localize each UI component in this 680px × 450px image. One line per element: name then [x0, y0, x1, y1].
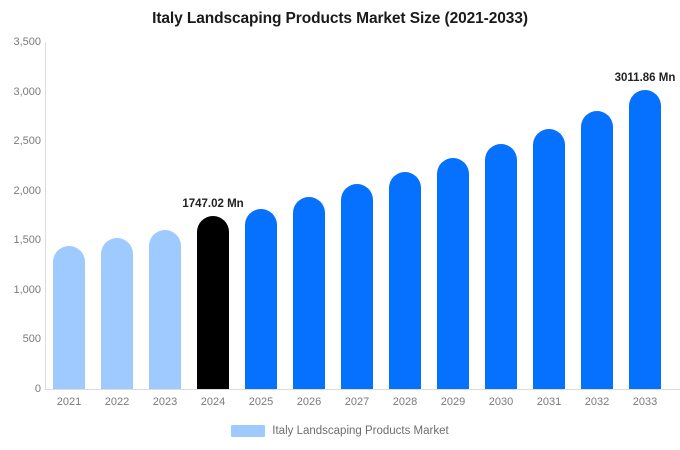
x-tick-label-2029: 2029	[429, 396, 477, 409]
y-tick-label: 3,500	[1, 37, 41, 48]
x-axis-line	[45, 389, 680, 390]
y-tick-label: 1,500	[1, 235, 41, 246]
data-labels-container: 1747.02 Mn3011.86 Mn	[45, 42, 680, 389]
x-tick-label-2027: 2027	[333, 396, 381, 409]
x-tick-label-2031: 2031	[525, 396, 573, 409]
y-tick-label: 500	[1, 334, 41, 345]
chart-legend: Italy Landscaping Products Market	[0, 425, 680, 437]
x-tick-label-2026: 2026	[285, 396, 333, 409]
x-tick-label-2028: 2028	[381, 396, 429, 409]
x-tick-label-2030: 2030	[477, 396, 525, 409]
data-label-2024: 1747.02 Mn	[182, 198, 243, 210]
y-tick-label: 2,500	[1, 136, 41, 147]
legend-swatch	[231, 425, 265, 437]
x-tick-label-2022: 2022	[93, 396, 141, 409]
bar-chart: Italy Landscaping Products Market Size (…	[0, 0, 680, 450]
chart-title: Italy Landscaping Products Market Size (…	[0, 10, 680, 28]
y-tick-label: 3,000	[1, 87, 41, 98]
legend-label: Italy Landscaping Products Market	[272, 425, 448, 437]
x-tick-label-2023: 2023	[141, 396, 189, 409]
x-tick-label-2032: 2032	[573, 396, 621, 409]
legend-item[interactable]: Italy Landscaping Products Market	[231, 425, 448, 437]
x-tick-label-2033: 2033	[621, 396, 669, 409]
x-axis-tick-labels: 2021202220232024202520262027202820292030…	[45, 396, 680, 414]
x-tick-label-2025: 2025	[237, 396, 285, 409]
x-tick-label-2021: 2021	[45, 396, 93, 409]
x-tick-label-2024: 2024	[189, 396, 237, 409]
y-tick-label: 0	[1, 384, 41, 395]
y-tick-label: 1,000	[1, 285, 41, 296]
y-tick-label: 2,000	[1, 186, 41, 197]
data-label-2033: 3011.86 Mn	[615, 72, 676, 84]
y-axis-tick-labels: 3,5003,0002,5002,0001,5001,0005000	[0, 0, 41, 450]
